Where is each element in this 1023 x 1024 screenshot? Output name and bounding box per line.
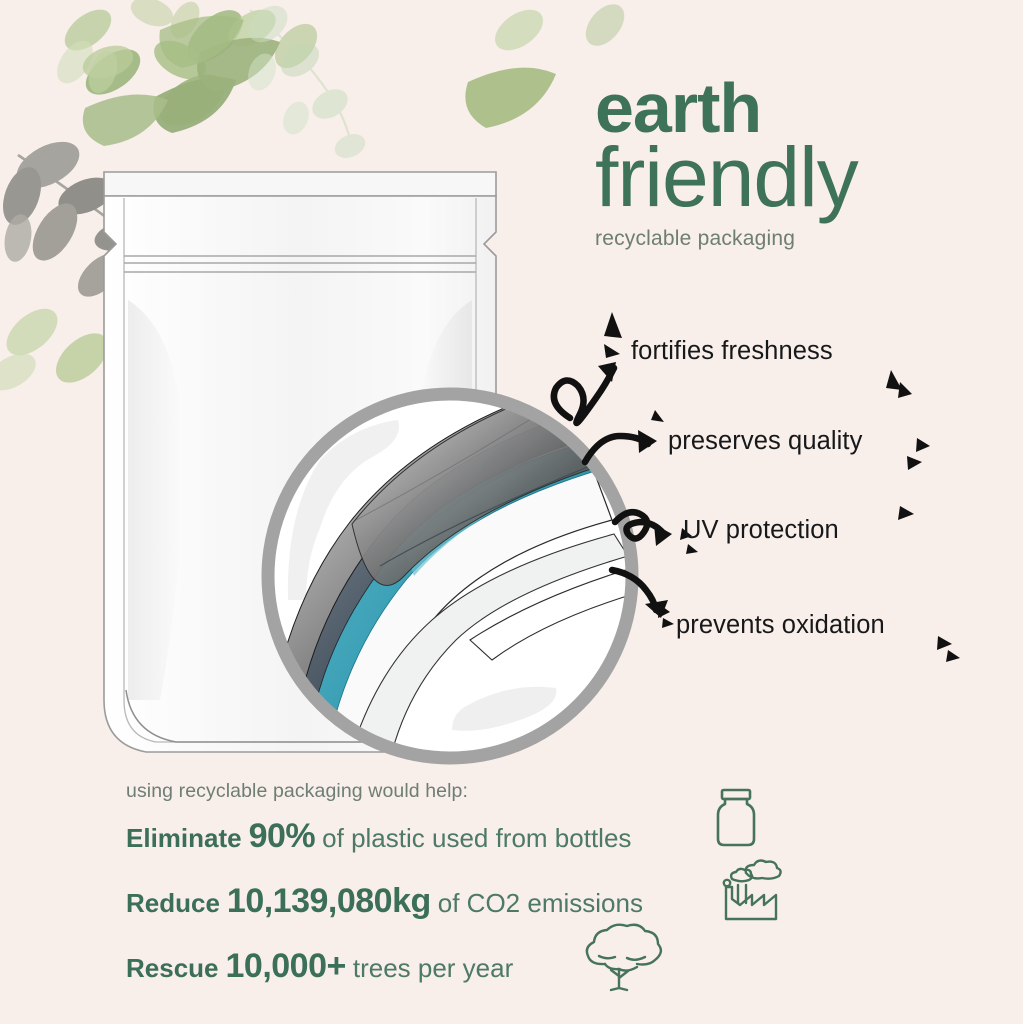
stat-number: 90% (249, 817, 316, 856)
infographic-canvas: earth friendly recyclable packaging fort… (0, 0, 1023, 1024)
statistics-lead-in: using recyclable packaging would help: (126, 780, 886, 803)
stat-verb: Reduce (126, 888, 220, 919)
stat-tail: trees per year (353, 953, 513, 984)
feature-label-fortifies-freshness: fortifies freshness (631, 337, 833, 366)
stat-number: 10,139,080kg (227, 882, 431, 921)
feature-label-preserves-quality: preserves quality (668, 427, 862, 456)
stat-verb: Rescue (126, 953, 219, 984)
title-line-friendly: friendly (595, 136, 1015, 218)
feature-label-uv-protection: UV protection (683, 516, 839, 545)
subtitle: recyclable packaging (595, 227, 1015, 251)
factory-icon (716, 857, 784, 927)
stat-row-eliminate: Eliminate 90% of plastic used from bottl… (126, 817, 886, 856)
tree-icon (575, 920, 667, 998)
page-title-block: earth friendly recyclable packaging (595, 75, 1015, 251)
bottle-icon (710, 787, 762, 849)
stat-tail: of plastic used from bottles (322, 823, 631, 854)
feature-label-prevents-oxidation: prevents oxidation (676, 611, 885, 640)
stat-tail: of CO2 emissions (438, 888, 643, 919)
stat-number: 10,000+ (226, 947, 346, 986)
stat-verb: Eliminate (126, 823, 242, 854)
stat-row-rescue: Rescue 10,000+ trees per year (126, 947, 886, 986)
